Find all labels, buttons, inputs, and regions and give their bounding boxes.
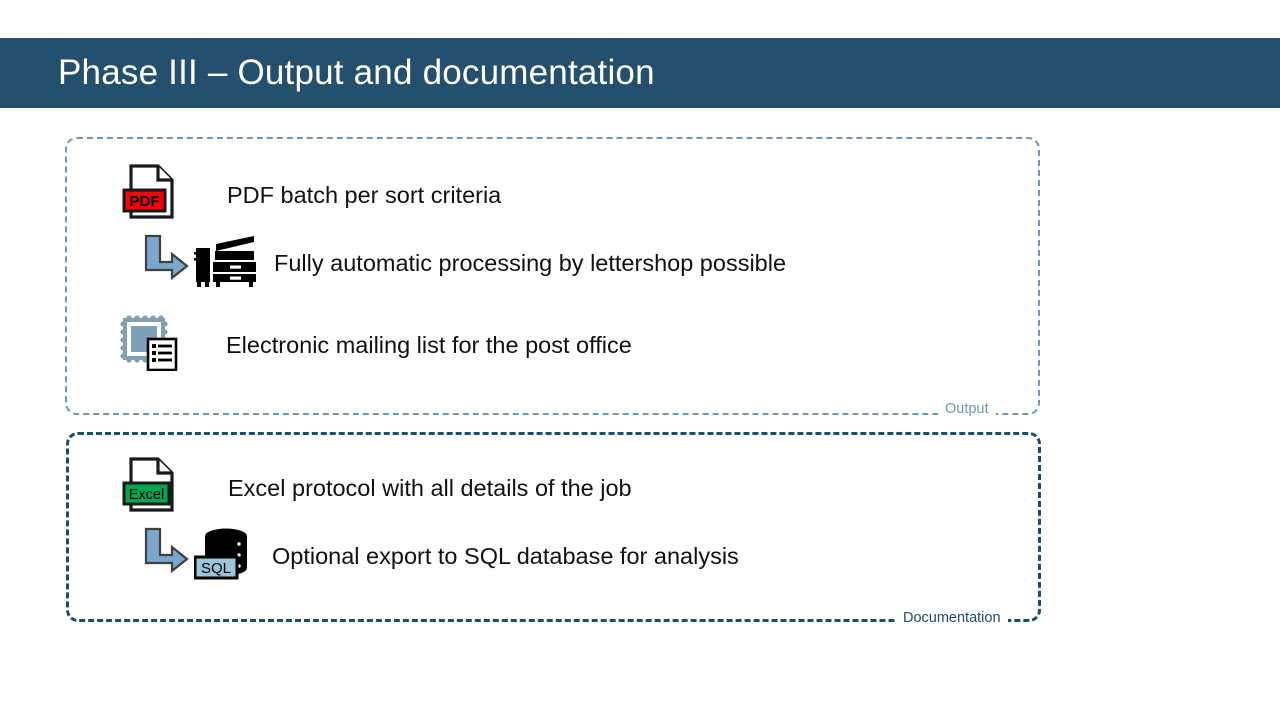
list-item: Electronic mailing list for the post off… — [118, 313, 632, 376]
list-item: Fully automatic processing by lettershop… — [138, 232, 786, 293]
elbow-arrow-icon — [138, 525, 190, 586]
list-item: PDF PDF batch per sort criteria — [122, 163, 501, 226]
elbow-arrow-icon — [138, 232, 190, 293]
excel-file-icon: Excel — [122, 456, 184, 519]
svg-text:SQL: SQL — [201, 560, 231, 577]
pdf-file-icon: PDF — [122, 163, 182, 226]
list-item-label: Electronic mailing list for the post off… — [226, 330, 632, 360]
postage-stamp-list-icon — [118, 313, 180, 376]
list-item-label: Excel protocol with all details of the j… — [228, 473, 632, 503]
svg-text:PDF: PDF — [130, 193, 160, 210]
list-item: SQL Optional export to SQL database for … — [138, 525, 739, 586]
svg-text:Excel: Excel — [129, 487, 164, 503]
list-item: Excel Excel protocol with all details of… — [122, 456, 632, 519]
list-item-label: Fully automatic processing by lettershop… — [274, 248, 786, 278]
group-label-documentation: Documentation — [896, 609, 1008, 627]
group-label-output: Output — [938, 400, 996, 418]
list-item-label: PDF batch per sort criteria — [227, 180, 501, 210]
page-title: Phase III – Output and documentation — [58, 50, 655, 96]
printer-icon — [194, 232, 256, 293]
list-item-label: Optional export to SQL database for anal… — [272, 541, 739, 571]
sql-database-icon: SQL — [194, 525, 252, 586]
